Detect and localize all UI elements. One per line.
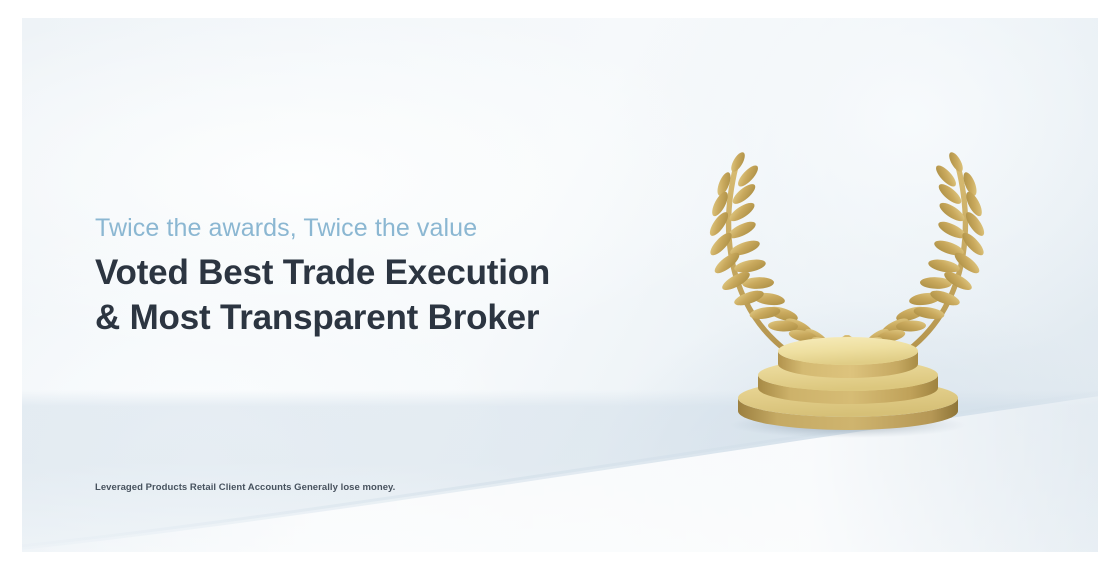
banner-headline: Voted Best Trade Execution & Most Transp… <box>95 251 695 340</box>
headline-line-1: Voted Best Trade Execution <box>95 251 695 295</box>
banner-copy: Twice the awards, Twice the value Voted … <box>95 213 695 340</box>
banner-frame: Twice the awards, Twice the value Voted … <box>0 0 1120 584</box>
headline-line-2: & Most Transparent Broker <box>95 296 695 340</box>
podium-icon <box>738 337 958 430</box>
banner-eyebrow: Twice the awards, Twice the value <box>95 213 695 244</box>
award-graphic <box>682 126 1012 446</box>
risk-disclaimer: Leveraged Products Retail Client Account… <box>95 482 395 493</box>
promo-banner: Twice the awards, Twice the value Voted … <box>22 18 1098 552</box>
